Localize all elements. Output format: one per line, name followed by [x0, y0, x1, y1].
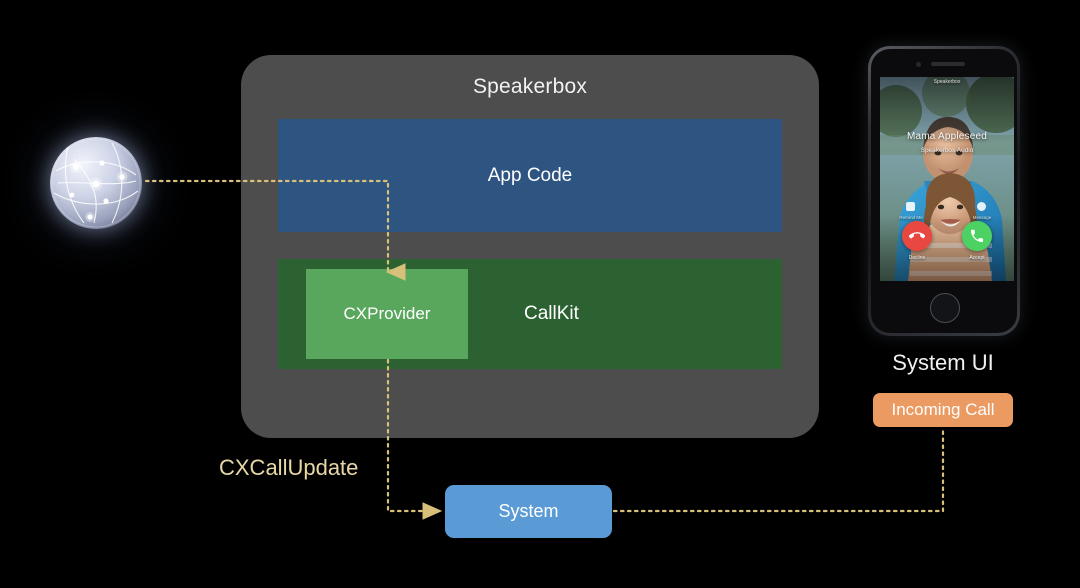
system-ui-label: System UI [845, 350, 1041, 376]
accept-call-label: Accept [957, 255, 997, 261]
speakerbox-container: Speakerbox App Code CXProvider CallKit [241, 55, 819, 438]
accept-call-button[interactable] [962, 221, 992, 251]
home-button[interactable] [930, 293, 960, 323]
app-code-label: App Code [488, 165, 573, 187]
cxprovider-block: CXProvider [306, 269, 468, 359]
phone-mockup: Speakerbox Mama Appleseed Speakerbox Aud… [868, 46, 1020, 336]
caller-name: Mama Appleseed [880, 131, 1014, 142]
app-code-block: App Code [278, 119, 782, 232]
remind-me-icon[interactable] [906, 202, 915, 211]
message-label: Message [959, 215, 1005, 220]
phone-down-icon [909, 228, 925, 244]
incoming-call-badge: Incoming Call [873, 393, 1013, 427]
earpiece-speaker [931, 62, 965, 66]
incoming-call-badge-label: Incoming Call [892, 400, 995, 420]
cxprovider-label: CXProvider [344, 304, 431, 324]
decline-call-button[interactable] [902, 221, 932, 251]
phone-up-icon [969, 228, 985, 244]
system-box: System [445, 485, 612, 538]
system-box-label: System [498, 501, 558, 522]
front-camera-icon [916, 62, 921, 67]
callkit-block: CXProvider CallKit [278, 259, 782, 369]
remind-me-label: Remind Me [888, 215, 934, 220]
call-actions: Remind Me Message Decline [880, 205, 1014, 267]
speakerbox-title: Speakerbox [241, 75, 819, 99]
message-icon[interactable] [977, 202, 986, 211]
network-globe-icon [50, 137, 142, 229]
callkit-label: CallKit [524, 259, 579, 369]
phone-status-bar: Speakerbox [880, 77, 1014, 86]
phone-body: Speakerbox Mama Appleseed Speakerbox Aud… [871, 49, 1017, 333]
diagram-canvas: Speakerbox App Code CXProvider CallKit S… [0, 0, 1080, 588]
call-subtitle: Speakerbox Audio [880, 147, 1014, 154]
cxcallupdate-label: CXCallUpdate [219, 455, 358, 481]
decline-call-label: Decline [897, 255, 937, 261]
phone-screen: Speakerbox Mama Appleseed Speakerbox Aud… [880, 77, 1014, 281]
